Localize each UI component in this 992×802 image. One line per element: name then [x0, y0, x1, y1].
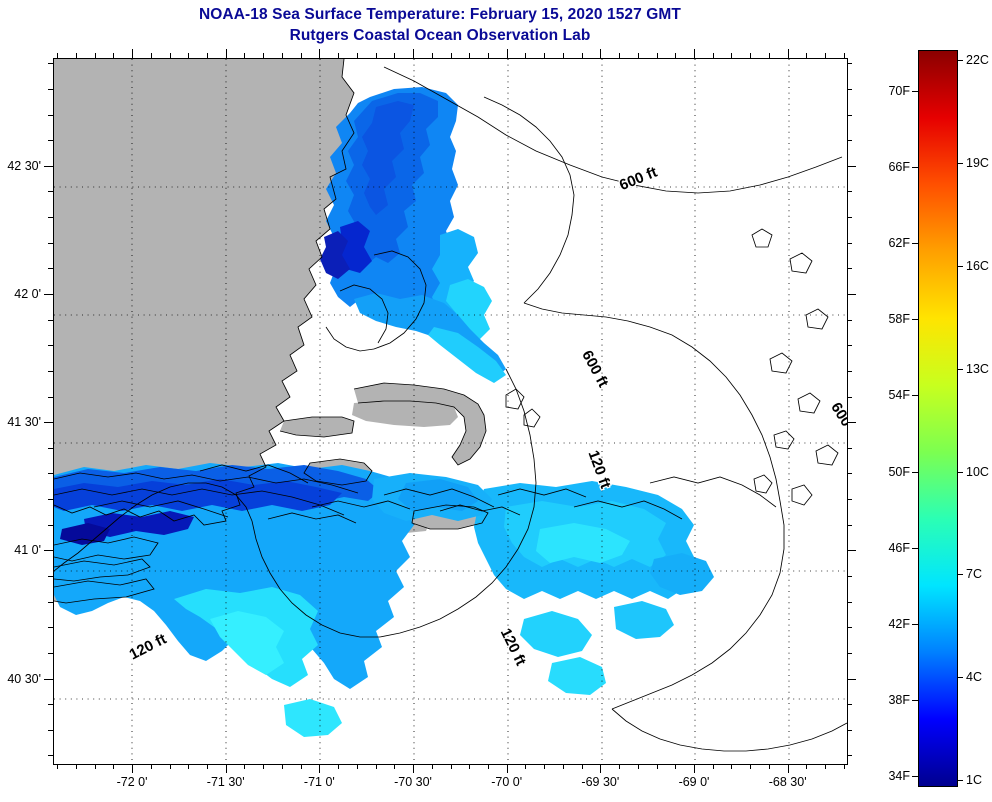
- x-tick-top: [263, 53, 264, 58]
- x-tick: [694, 764, 695, 773]
- x-tick: [76, 764, 77, 769]
- x-tick-top: [544, 53, 545, 58]
- x-axis-label: -71 0': [304, 775, 335, 789]
- x-tick-top: [338, 53, 339, 58]
- colorbar-label-f: 50F: [888, 465, 910, 479]
- x-tick-top: [694, 49, 695, 58]
- x-tick-top: [207, 53, 208, 58]
- colorbar-label-f: 42F: [888, 617, 910, 631]
- y-tick-right: [847, 63, 852, 64]
- y-tick-right: [847, 140, 852, 141]
- y-tick: [48, 525, 53, 526]
- y-tick: [48, 115, 53, 116]
- y-tick: [48, 448, 53, 449]
- x-tick-top: [301, 53, 302, 58]
- y-tick: [48, 755, 53, 756]
- y-tick-right: [847, 397, 852, 398]
- x-tick-top: [769, 53, 770, 58]
- y-tick: [48, 243, 53, 244]
- y-tick-right: [847, 525, 852, 526]
- x-axis-label: -72 0': [117, 775, 148, 789]
- colorbar-tick: [958, 369, 963, 370]
- y-tick: [44, 166, 53, 167]
- x-tick-top: [188, 53, 189, 58]
- x-tick-top: [432, 53, 433, 58]
- colorbar-label-c: 4C: [966, 670, 982, 684]
- x-tick-top: [582, 53, 583, 58]
- colorbar-tick: [958, 472, 963, 473]
- y-tick-right: [847, 550, 856, 551]
- y-axis-label: 41 0': [0, 543, 41, 557]
- x-tick: [619, 764, 620, 769]
- y-tick-right: [847, 499, 852, 500]
- x-tick: [750, 764, 751, 769]
- colorbar-label-c: 16C: [966, 259, 989, 273]
- title-line-2: Rutgers Coastal Ocean Observation Lab: [0, 25, 880, 46]
- x-tick: [788, 764, 789, 773]
- y-axis-label: 42 0': [0, 287, 41, 301]
- x-tick-top: [731, 53, 732, 58]
- x-tick: [844, 764, 845, 769]
- y-tick: [48, 371, 53, 372]
- colorbar-label-c: 7C: [966, 567, 982, 581]
- colorbar-tick: [958, 60, 963, 61]
- y-tick-right: [847, 755, 852, 756]
- colorbar-tick: [912, 548, 918, 549]
- y-tick: [48, 473, 53, 474]
- x-tick: [132, 764, 133, 773]
- x-tick: [507, 764, 508, 773]
- y-axis-label: 41 30': [0, 415, 41, 429]
- y-tick: [48, 704, 53, 705]
- colorbar-tick: [912, 624, 918, 625]
- x-tick-top: [151, 53, 152, 58]
- x-tick: [413, 764, 414, 773]
- x-tick-top: [788, 49, 789, 58]
- x-tick-top: [132, 49, 133, 58]
- colorbar-label-f: 66F: [888, 160, 910, 174]
- y-tick-right: [847, 217, 852, 218]
- sst-map-svg: 600 ft600 ft600 ft600 ft120 ft120 ft120 …: [54, 59, 847, 764]
- colorbar-label-f: 46F: [888, 541, 910, 555]
- temperature-colorbar[interactable]: 70F66F62F58F54F50F46F42F38F34F22C19C16C1…: [918, 50, 958, 787]
- x-tick: [544, 764, 545, 769]
- y-tick-right: [847, 627, 852, 628]
- colorbar-tick: [912, 395, 918, 396]
- y-tick-right: [847, 576, 852, 577]
- x-tick-top: [57, 53, 58, 58]
- x-tick-top: [170, 53, 171, 58]
- y-tick-right: [847, 89, 852, 90]
- y-tick: [48, 320, 53, 321]
- x-axis-label: -69 30': [581, 775, 619, 789]
- colorbar-label-f: 70F: [888, 84, 910, 98]
- x-axis-label: -68 30': [769, 775, 807, 789]
- colorbar-tick: [912, 319, 918, 320]
- colorbar-label-c: 1C: [966, 773, 982, 787]
- x-tick: [451, 764, 452, 769]
- x-tick: [525, 764, 526, 769]
- colorbar-tick: [912, 91, 918, 92]
- x-tick-top: [76, 53, 77, 58]
- x-tick-top: [657, 53, 658, 58]
- chart-title-block: NOAA-18 Sea Surface Temperature: Februar…: [0, 4, 880, 46]
- x-tick: [113, 764, 114, 769]
- colorbar-label-f: 38F: [888, 693, 910, 707]
- x-tick: [301, 764, 302, 769]
- x-tick-top: [95, 53, 96, 58]
- x-tick: [582, 764, 583, 769]
- x-axis-label: -69 0': [679, 775, 710, 789]
- y-tick: [44, 422, 53, 423]
- y-axis-label: 42 30': [0, 159, 41, 173]
- colorbar-tick: [912, 700, 918, 701]
- x-tick: [376, 764, 377, 769]
- y-tick: [48, 730, 53, 731]
- colorbar-label-c: 19C: [966, 156, 989, 170]
- y-tick-right: [847, 243, 852, 244]
- x-tick: [675, 764, 676, 769]
- colorbar-tick: [912, 776, 918, 777]
- x-axis-label: -70 0': [491, 775, 522, 789]
- x-tick: [170, 764, 171, 769]
- y-tick: [44, 679, 53, 680]
- x-tick-top: [226, 49, 227, 58]
- colorbar-tick: [958, 574, 963, 575]
- x-tick: [825, 764, 826, 769]
- x-tick-top: [469, 53, 470, 58]
- x-tick: [563, 764, 564, 769]
- y-tick-right: [847, 653, 852, 654]
- y-tick-right: [847, 166, 856, 167]
- title-line-1: NOAA-18 Sea Surface Temperature: Februar…: [0, 4, 880, 25]
- colorbar-tick: [958, 780, 963, 781]
- x-tick: [338, 764, 339, 769]
- y-tick: [48, 140, 53, 141]
- x-tick-top: [844, 53, 845, 58]
- x-tick-top: [507, 49, 508, 58]
- x-tick-top: [488, 53, 489, 58]
- x-tick: [319, 764, 320, 773]
- x-tick-top: [806, 53, 807, 58]
- x-tick-top: [825, 53, 826, 58]
- x-tick: [731, 764, 732, 769]
- x-tick-top: [357, 53, 358, 58]
- x-tick-top: [451, 53, 452, 58]
- y-tick-right: [847, 320, 852, 321]
- x-tick-top: [750, 53, 751, 58]
- y-tick-right: [847, 371, 852, 372]
- x-tick-top: [413, 49, 414, 58]
- y-tick: [48, 397, 53, 398]
- colorbar-tick: [958, 266, 963, 267]
- x-tick-top: [600, 49, 601, 58]
- y-tick: [48, 653, 53, 654]
- x-tick-top: [713, 53, 714, 58]
- colorbar-label-f: 62F: [888, 236, 910, 250]
- y-tick: [48, 499, 53, 500]
- y-tick-right: [847, 679, 856, 680]
- x-axis-label: -71 30': [207, 775, 245, 789]
- y-tick: [48, 345, 53, 346]
- x-tick: [151, 764, 152, 769]
- x-tick-top: [244, 53, 245, 58]
- x-tick: [188, 764, 189, 769]
- colorbar-label-f: 34F: [888, 769, 910, 783]
- y-tick: [44, 294, 53, 295]
- x-tick: [769, 764, 770, 769]
- colorbar-label-c: 10C: [966, 465, 989, 479]
- x-tick: [600, 764, 601, 773]
- x-tick: [244, 764, 245, 769]
- y-tick-right: [847, 294, 856, 295]
- x-tick-top: [619, 53, 620, 58]
- y-tick: [48, 191, 53, 192]
- x-tick: [95, 764, 96, 769]
- sst-map-plot[interactable]: 600 ft600 ft600 ft600 ft120 ft120 ft120 …: [53, 58, 848, 765]
- y-tick: [48, 217, 53, 218]
- x-tick: [226, 764, 227, 773]
- x-tick: [57, 764, 58, 769]
- x-tick-top: [675, 53, 676, 58]
- x-tick: [469, 764, 470, 769]
- x-tick: [357, 764, 358, 769]
- x-tick-top: [563, 53, 564, 58]
- y-tick-right: [847, 115, 852, 116]
- x-tick: [806, 764, 807, 769]
- x-tick: [488, 764, 489, 769]
- x-tick-top: [394, 53, 395, 58]
- x-tick: [713, 764, 714, 769]
- y-tick: [48, 576, 53, 577]
- y-tick-right: [847, 191, 852, 192]
- y-tick: [48, 602, 53, 603]
- colorbar-label-f: 54F: [888, 388, 910, 402]
- x-tick: [432, 764, 433, 769]
- colorbar-tick: [958, 677, 963, 678]
- x-tick: [657, 764, 658, 769]
- y-tick: [44, 550, 53, 551]
- colorbar-label-c: 22C: [966, 53, 989, 67]
- y-tick-right: [847, 268, 852, 269]
- map-clip: 600 ft600 ft600 ft600 ft120 ft120 ft120 …: [54, 59, 847, 764]
- colorbar-tick: [912, 167, 918, 168]
- x-tick-top: [113, 53, 114, 58]
- y-tick-right: [847, 602, 852, 603]
- y-tick-right: [847, 730, 852, 731]
- colorbar-label-f: 58F: [888, 312, 910, 326]
- x-tick-top: [319, 49, 320, 58]
- colorbar-tick: [912, 243, 918, 244]
- y-tick: [48, 89, 53, 90]
- x-tick: [207, 764, 208, 769]
- y-tick: [48, 627, 53, 628]
- y-tick-right: [847, 704, 852, 705]
- x-tick-top: [376, 53, 377, 58]
- colorbar-tick: [958, 163, 963, 164]
- x-axis-label: -70 30': [394, 775, 432, 789]
- x-tick: [638, 764, 639, 769]
- y-axis-label: 40 30': [0, 672, 41, 686]
- colorbar-label-c: 13C: [966, 362, 989, 376]
- x-tick: [394, 764, 395, 769]
- colorbar-gradient: [918, 50, 958, 787]
- y-tick-right: [847, 473, 852, 474]
- y-tick-right: [847, 345, 852, 346]
- y-tick-right: [847, 448, 852, 449]
- y-tick: [48, 268, 53, 269]
- x-tick: [282, 764, 283, 769]
- x-tick-top: [525, 53, 526, 58]
- x-tick-top: [282, 53, 283, 58]
- x-tick-top: [638, 53, 639, 58]
- x-tick: [263, 764, 264, 769]
- y-tick: [48, 63, 53, 64]
- colorbar-tick: [912, 472, 918, 473]
- y-tick-right: [847, 422, 856, 423]
